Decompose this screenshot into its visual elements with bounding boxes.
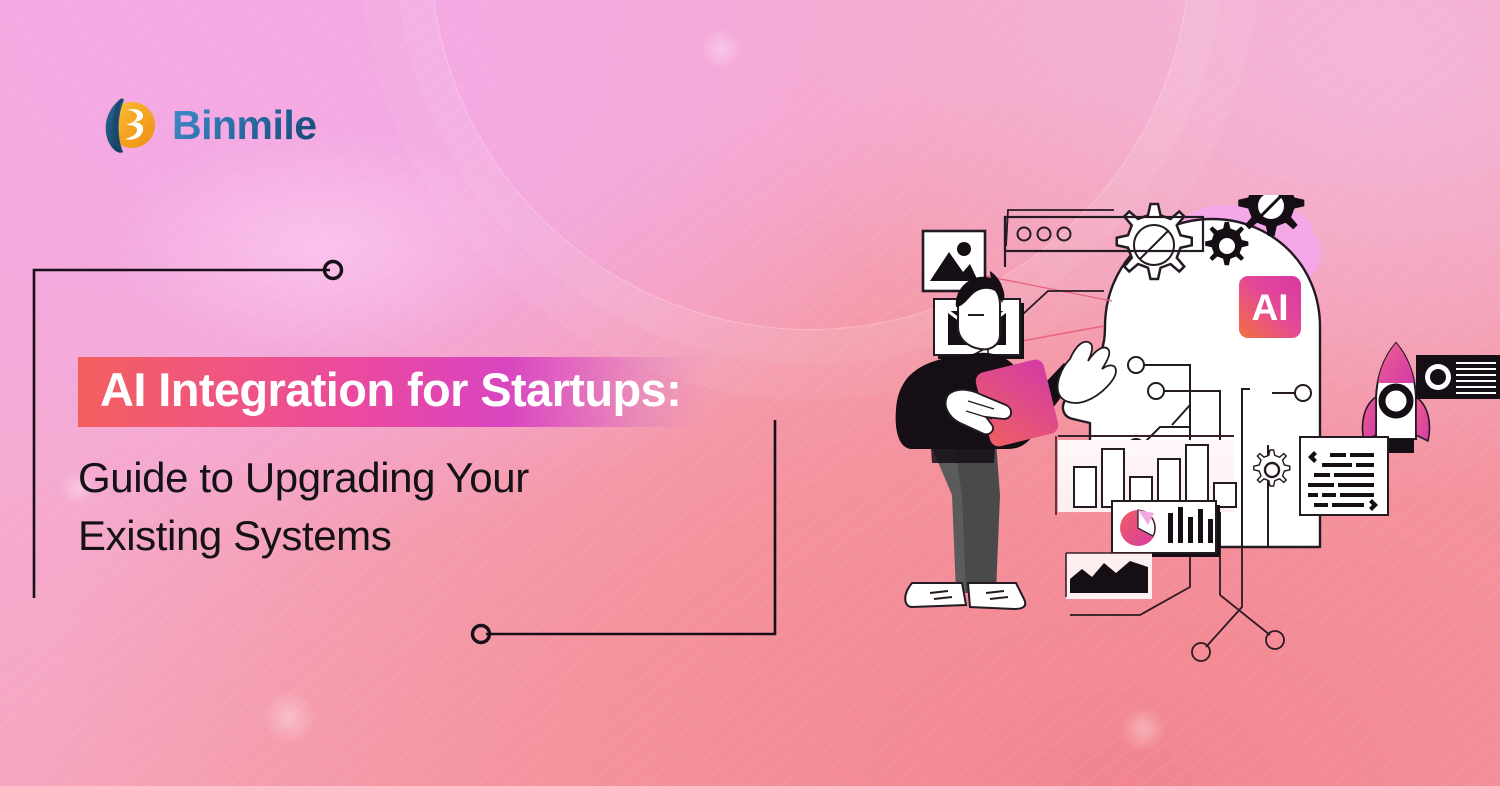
ai-badge-label: AI xyxy=(1252,287,1289,328)
hero-banner: Binmile AI Integration for Startups: Gui… xyxy=(0,0,1500,786)
hero-subtitle: Guide to Upgrading Your Existing Systems xyxy=(78,449,707,565)
ai-illustration: AI xyxy=(890,195,1500,675)
gear-icon-tiny xyxy=(1254,450,1290,486)
area-chart-panel xyxy=(1066,553,1152,599)
code-document-icon xyxy=(1300,437,1388,515)
hero-title: AI Integration for Startups: xyxy=(100,365,681,415)
hero-text-block: AI Integration for Startups: Guide to Up… xyxy=(78,357,707,565)
brand-wordmark: Binmile xyxy=(172,102,317,149)
binmile-logo-icon xyxy=(96,94,158,156)
pie-chart-panel xyxy=(1112,501,1220,557)
hero-subtitle-line-2: Existing Systems xyxy=(78,507,707,565)
background-bokeh-dot xyxy=(700,28,742,70)
background-bokeh-dot xyxy=(262,690,316,744)
hero-subtitle-line-1: Guide to Upgrading Your xyxy=(78,449,707,507)
hero-title-highlight-bar: AI Integration for Startups: xyxy=(78,357,707,427)
gear-icon-small xyxy=(1205,222,1248,265)
gear-icon-large xyxy=(1117,204,1192,279)
background-bokeh-dot xyxy=(1120,706,1166,752)
dark-card-icon xyxy=(1416,355,1500,399)
ai-badge: AI xyxy=(1239,276,1301,338)
brand-logo[interactable]: Binmile xyxy=(96,94,317,156)
